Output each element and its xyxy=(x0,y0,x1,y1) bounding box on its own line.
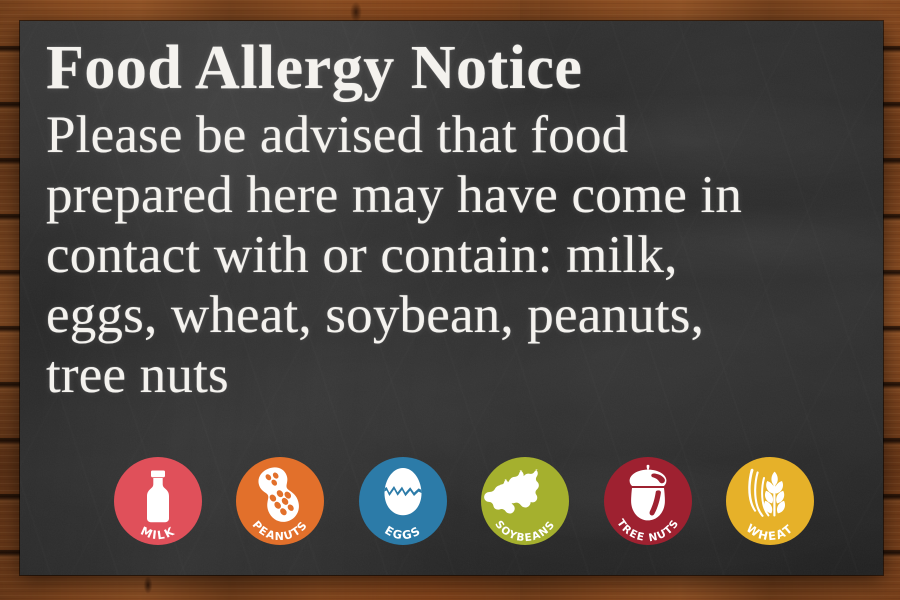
notice-body-line-2: prepared here may have come in xyxy=(46,165,873,225)
notice-body-line-4: eggs, wheat, soybean, peanuts, xyxy=(46,285,873,345)
food-allergy-notice-poster: Food Allergy Notice Please be advised th… xyxy=(0,0,900,600)
notice-body-line-1: Please be advised that food xyxy=(46,105,873,165)
allergen-badge-row: MILK xyxy=(114,455,814,547)
allergen-badge-wheat[interactable]: WHEAT xyxy=(726,457,814,545)
allergen-badge-milk[interactable]: MILK xyxy=(114,457,202,545)
notice-body-line-5: tree nuts xyxy=(46,345,873,405)
allergen-badge-soybeans[interactable]: SOYBEANS xyxy=(481,457,569,545)
acorn-icon xyxy=(629,465,666,521)
allergen-badge-peanuts[interactable]: PEANUTS xyxy=(236,457,324,545)
chalkboard-panel: Food Allergy Notice Please be advised th… xyxy=(20,21,883,575)
allergen-badge-tree-nuts[interactable]: TREE NUTS xyxy=(604,457,692,545)
notice-body-line-3: contact with or contain: milk, xyxy=(46,225,873,285)
allergen-badge-eggs[interactable]: EGGS xyxy=(359,457,447,545)
page-title: Food Allergy Notice xyxy=(46,31,873,105)
notice-text-block: Food Allergy Notice Please be advised th… xyxy=(46,31,873,405)
